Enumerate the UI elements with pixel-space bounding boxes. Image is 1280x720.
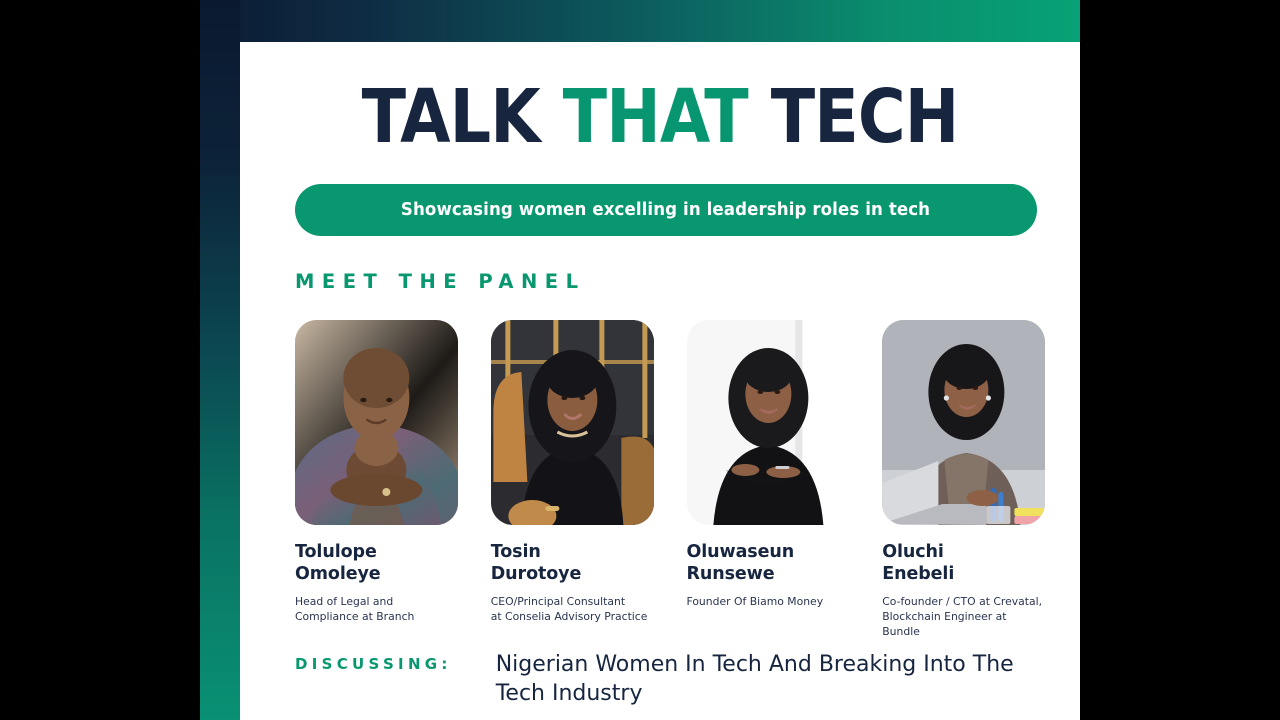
panelist-role: CEO/Principal Consultant at Conselia Adv… xyxy=(491,594,654,625)
page-title: TALKTHATTECH xyxy=(290,80,1029,154)
top-gradient-bar xyxy=(200,0,1080,42)
title-word-talk: TALK xyxy=(362,80,540,154)
panelist-card: Tolulope Omoleye Head of Legal and Compl… xyxy=(295,320,458,640)
panelist-card: Oluchi Enebeli Co-founder / CTO at Creva… xyxy=(882,320,1045,640)
title-word-tech: TECH xyxy=(771,80,959,154)
panelist-card: Tosin Durotoye CEO/Principal Consultant … xyxy=(491,320,654,640)
portrait-tosin-durotoye xyxy=(491,320,654,525)
portrait-oluwaseun-runsewe xyxy=(687,320,850,525)
panel-grid: Tolulope Omoleye Head of Legal and Compl… xyxy=(295,320,1045,640)
panelist-role: Founder Of Biamo Money xyxy=(687,594,850,609)
title-word-that: THAT xyxy=(563,80,748,154)
panelist-name: Tolulope Omoleye xyxy=(295,541,458,586)
subtitle-banner: Showcasing women excelling in leadership… xyxy=(295,184,1037,236)
panelist-role: Co-founder / CTO at Crevatal, Blockchain… xyxy=(882,594,1045,640)
panelist-name: Oluchi Enebeli xyxy=(882,541,1045,586)
panelist-name: Tosin Durotoye xyxy=(491,541,654,586)
portrait-tolulope-omoleye xyxy=(295,320,458,525)
discussing-row: DISCUSSING: Nigerian Women In Tech And B… xyxy=(295,650,1055,709)
discussing-label: DISCUSSING: xyxy=(295,650,452,673)
panelist-name: Oluwaseun Runsewe xyxy=(687,541,850,586)
portrait-oluchi-enebeli xyxy=(882,320,1045,525)
subtitle-text: Showcasing women excelling in leadership… xyxy=(401,200,930,220)
left-gradient-bar xyxy=(200,0,240,720)
discussing-topic: Nigerian Women In Tech And Breaking Into… xyxy=(496,650,1021,709)
poster-slide: TALKTHATTECH Showcasing women excelling … xyxy=(0,0,1280,720)
panelist-role: Head of Legal and Compliance at Branch xyxy=(295,594,458,625)
poster-card: TALKTHATTECH Showcasing women excelling … xyxy=(240,42,1080,720)
panelist-card: Oluwaseun Runsewe Founder Of Biamo Money xyxy=(687,320,850,640)
section-label-meet-the-panel: MEET THE PANEL xyxy=(295,270,586,293)
